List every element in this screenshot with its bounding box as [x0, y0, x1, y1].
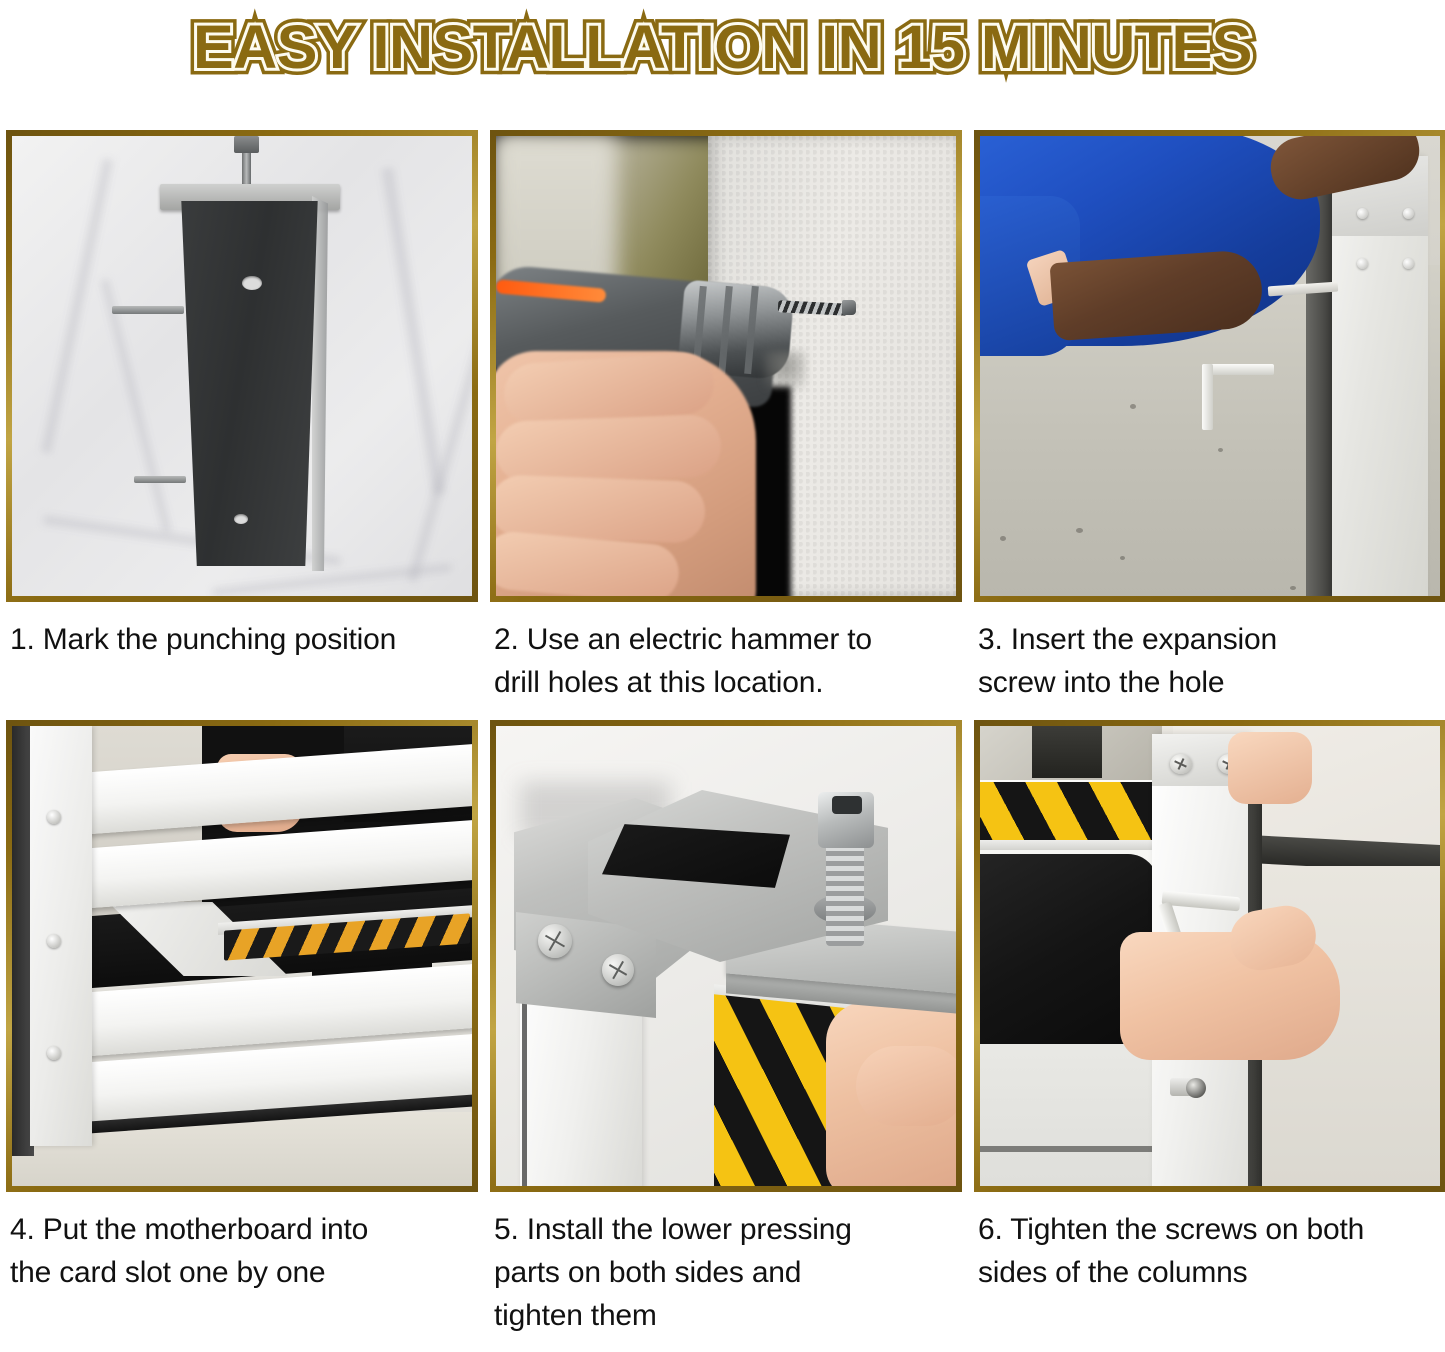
- column-cap-screw-1: [1170, 754, 1192, 774]
- tightening-column-screws-photo: [980, 726, 1440, 1186]
- worker-arm: [1050, 249, 1265, 341]
- step-5-image-frame: [490, 720, 962, 1192]
- step-card-2: 2. Use an electric hammer to drill holes…: [490, 130, 962, 704]
- drill-dust: [764, 351, 806, 389]
- protruding-bolt-upper: [112, 306, 184, 314]
- step-card-3: 3. Insert the expansion screw into the h…: [974, 130, 1445, 704]
- inserting-expansion-screw-photo: [980, 136, 1440, 596]
- step-6-image-frame: [974, 720, 1445, 1192]
- post-hole-upper: [242, 276, 262, 290]
- second-hand: [1228, 732, 1312, 804]
- drilling-holes-photo: [496, 136, 956, 596]
- steps-row-bottom: 4. Put the motherboard into the card slo…: [6, 720, 1443, 1337]
- hex-bolt-shaft: [826, 834, 864, 946]
- header-banner: EASY INSTALLATION IN 15 MINUTES EASY INS…: [0, 0, 1445, 92]
- steps-row-top: 1. Mark the punching position: [6, 130, 1443, 704]
- step-2-image-frame: [490, 130, 962, 602]
- title-fill: EASY INSTALLATION IN 15 MINUTES: [193, 10, 1252, 84]
- step-card-5: 5. Install the lower pressing parts on b…: [490, 720, 962, 1337]
- marking-punching-position-photo: [12, 136, 472, 596]
- step-3-caption: 3. Insert the expansion screw into the h…: [974, 618, 1445, 704]
- hazard-stripe-barrier-6: [980, 782, 1152, 842]
- protruding-bolt-lower: [134, 476, 186, 483]
- step-2-caption: 2. Use an electric hammer to drill holes…: [490, 618, 962, 704]
- step-1-caption: 1. Mark the punching position: [6, 618, 478, 661]
- step-card-6: 6. Tighten the screws on both sides of t…: [974, 720, 1445, 1337]
- step-6-caption: 6. Tighten the screws on both sides of t…: [974, 1208, 1445, 1294]
- rod-nut: [234, 136, 259, 153]
- inserting-boards-photo: [12, 726, 472, 1186]
- installation-guide-page: EASY INSTALLATION IN 15 MINUTES EASY INS…: [0, 0, 1445, 1352]
- step-4-caption: 4. Put the motherboard into the card slo…: [6, 1208, 478, 1294]
- step-4-image-frame: [6, 720, 478, 1192]
- bracket-screw-2: [602, 954, 634, 986]
- bracket-screw-1: [538, 924, 572, 958]
- post-hole-lower: [234, 514, 248, 524]
- step-1-image-frame: [6, 130, 478, 602]
- lower-pressing-parts-photo: [496, 726, 956, 1186]
- step-5-caption: 5. Install the lower pressing parts on b…: [490, 1208, 962, 1337]
- step-3-image-frame: [974, 130, 1445, 602]
- mounting-post: [172, 201, 327, 566]
- page-title: EASY INSTALLATION IN 15 MINUTES EASY INS…: [193, 10, 1252, 84]
- steps-grid: 1. Mark the punching position: [6, 130, 1443, 1337]
- column-with-card-slots: [30, 726, 92, 1146]
- step-card-4: 4. Put the motherboard into the card slo…: [6, 720, 478, 1337]
- step-card-1: 1. Mark the punching position: [6, 130, 478, 704]
